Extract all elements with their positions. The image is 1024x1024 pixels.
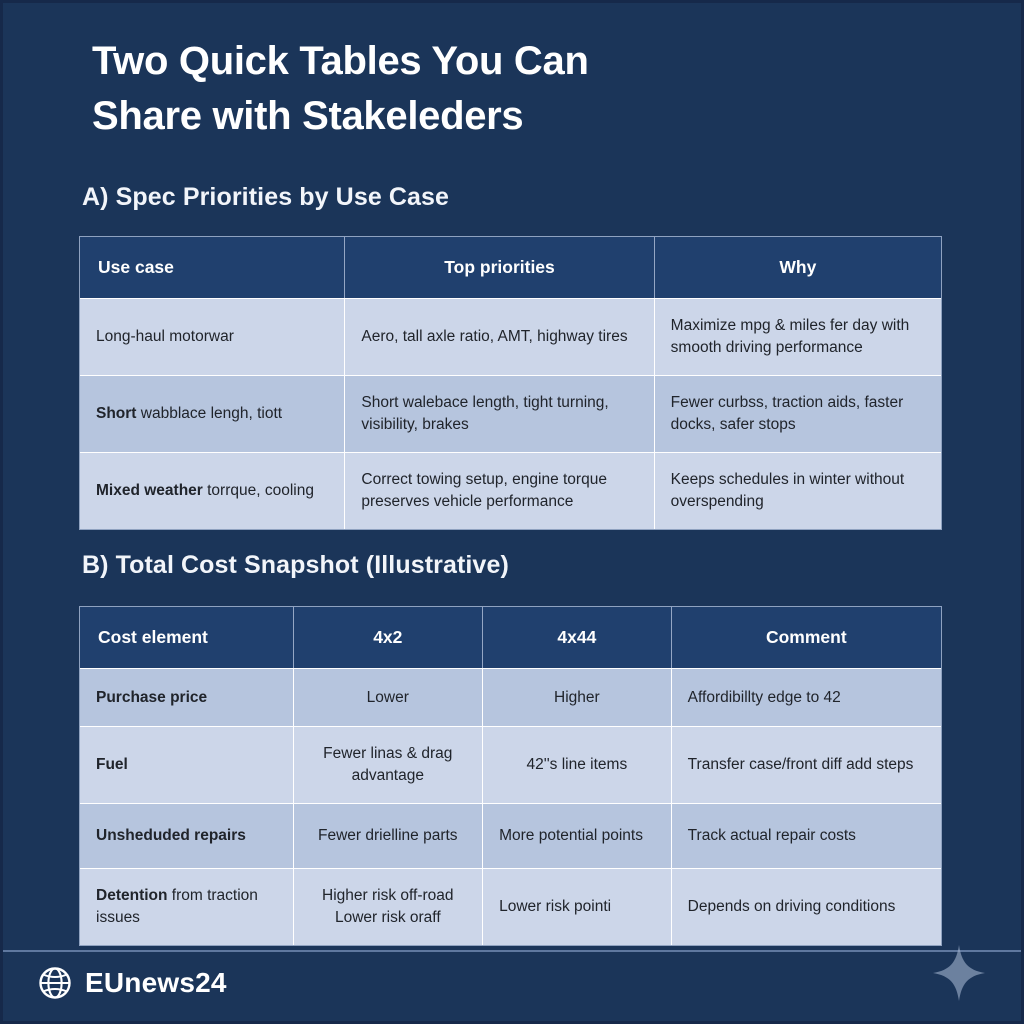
cell-4x2: Fewer linas & drag advantage <box>294 727 484 803</box>
table-row: Long-haul motorwar Aero, tall axle ratio… <box>80 298 941 375</box>
cell-4x2: Fewer drielline parts <box>294 804 484 868</box>
table-row: Mixed weather torrque, cooling Correct t… <box>80 452 941 529</box>
cell-use-case: Mixed weather torrque, cooling <box>80 453 345 529</box>
cell-comment: Track actual repair costs <box>672 804 941 868</box>
cell-cost-element: Fuel <box>80 727 294 803</box>
sparkle-icon <box>933 945 985 1001</box>
cell-use-case: Long-haul motorwar <box>80 299 345 375</box>
cell-use-case-text: wabblace lengh, tiott <box>136 405 282 422</box>
cell-4x44: Lower risk pointi <box>483 869 672 945</box>
globe-icon <box>38 966 72 1000</box>
total-cost-snapshot-table: Cost element 4x2 4x44 Comment Purchase p… <box>79 606 942 946</box>
column-header-4x44: 4x44 <box>483 607 672 668</box>
cell-top-priorities: Aero, tall axle ratio, AMT, highway tire… <box>345 299 654 375</box>
cell-cost-element: Purchase price <box>80 669 294 726</box>
cell-why: Fewer curbss, traction aids, faster dock… <box>655 376 941 452</box>
cell-cost-element: Detention from traction issues <box>80 869 294 945</box>
cell-4x44: 42''s line items <box>483 727 672 803</box>
section-heading-b: B) Total Cost Snapshot (Illustrative) <box>82 551 509 580</box>
cell-4x2: Lower <box>294 669 484 726</box>
column-header-cost-element: Cost element <box>80 607 294 668</box>
cell-comment: Transfer case/front diff add steps <box>672 727 941 803</box>
cell-use-case-text: Long-haul motorwar <box>96 328 234 345</box>
cell-why: Keeps schedules in winter without oversp… <box>655 453 941 529</box>
cell-cost-element-emphasis: Purchase price <box>96 689 207 706</box>
infographic-page: Two Quick Tables You Can Share with Stak… <box>0 0 1024 1024</box>
cell-cost-element: Unsheduded repairs <box>80 804 294 868</box>
page-title-line-2: Share with Stakeleders <box>92 89 792 144</box>
table-row: Detention from traction issues Higher ri… <box>80 868 941 945</box>
cell-4x2: Higher risk off-road Lower risk oraff <box>294 869 484 945</box>
cell-cost-element-emphasis: Detention <box>96 887 167 904</box>
cell-use-case-emphasis: Short <box>96 405 136 422</box>
column-header-why: Why <box>655 237 941 298</box>
cell-use-case-emphasis: Mixed weather <box>96 482 203 499</box>
cell-use-case: Short wabblace lengh, tiott <box>80 376 345 452</box>
column-header-top-priorities: Top priorities <box>345 237 654 298</box>
cell-4x44: Higher <box>483 669 672 726</box>
column-header-4x2: 4x2 <box>294 607 484 668</box>
footer-divider <box>0 950 1024 952</box>
table-row: Unsheduded repairs Fewer drielline parts… <box>80 803 941 868</box>
column-header-use-case: Use case <box>80 237 345 298</box>
cell-top-priorities: Short walebace length, tight turning, vi… <box>345 376 654 452</box>
cell-top-priorities: Correct towing setup, engine torque pres… <box>345 453 654 529</box>
cell-use-case-text: torrque, cooling <box>203 482 314 499</box>
spec-priorities-table: Use case Top priorities Why Long-haul mo… <box>79 236 942 530</box>
section-heading-a: A) Spec Priorities by Use Case <box>82 183 449 212</box>
cell-cost-element-emphasis: Unsheduded repairs <box>96 827 246 844</box>
brand-name: EUnews24 <box>85 967 227 999</box>
cell-cost-element-emphasis: Fuel <box>96 756 128 773</box>
page-title-line-1: Two Quick Tables You Can <box>92 34 792 89</box>
cell-comment: Affordibillty edge to 42 <box>672 669 941 726</box>
table-header-row: Cost element 4x2 4x44 Comment <box>80 607 941 668</box>
cell-4x44: More potential points <box>483 804 672 868</box>
cell-comment: Depends on driving conditions <box>672 869 941 945</box>
column-header-comment: Comment <box>672 607 941 668</box>
page-title: Two Quick Tables You Can Share with Stak… <box>92 34 792 144</box>
table-row: Short wabblace lengh, tiott Short waleba… <box>80 375 941 452</box>
table-row: Fuel Fewer linas & drag advantage 42''s … <box>80 726 941 803</box>
table-row: Purchase price Lower Higher Affordibillt… <box>80 668 941 726</box>
cell-why: Maximize mpg & miles fer day with smooth… <box>655 299 941 375</box>
footer-branding: EUnews24 <box>38 966 227 1000</box>
table-header-row: Use case Top priorities Why <box>80 237 941 298</box>
